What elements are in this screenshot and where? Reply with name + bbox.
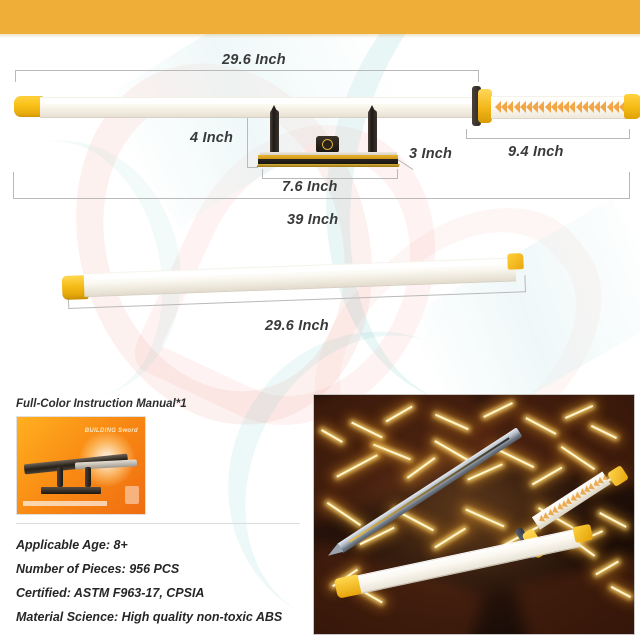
grip-wrap-chevron xyxy=(582,101,588,113)
dim-label-scabbard-top: 29.6 Inch xyxy=(222,52,286,68)
section-divider xyxy=(16,523,300,524)
spec-material-science: Material Science: High quality non-toxic… xyxy=(16,610,282,624)
stand-emblem-icon xyxy=(322,139,333,150)
header-shadow xyxy=(0,34,640,38)
dim-label-stand-depth: 3 Inch xyxy=(409,146,452,162)
dim-label-stand-height: 4 Inch xyxy=(190,130,233,146)
grip-wrap-chevron xyxy=(526,101,532,113)
grip-wrap-chevron xyxy=(551,101,557,113)
grip-wrap-chevron xyxy=(600,101,606,113)
spec-number-of-pieces: Number of Pieces: 956 PCS xyxy=(16,562,179,576)
product-photo xyxy=(313,394,635,635)
manual-cover-stand-base xyxy=(41,487,101,494)
photo-scabbard-cap-right xyxy=(572,524,593,543)
grip-wrap-chevron xyxy=(545,101,551,113)
grip-wrap-chevron xyxy=(507,101,513,113)
display-stand-diagram xyxy=(258,110,398,166)
sword-pommel-cap xyxy=(624,94,640,119)
manual-cover-title: BUILDING Sword xyxy=(85,427,138,436)
stand-post-right xyxy=(368,110,377,154)
grip-wrap-chevron xyxy=(576,101,582,113)
dim-label-handle-length: 9.4 Inch xyxy=(508,144,564,160)
sword-grip xyxy=(491,96,631,119)
stand-base-bevel xyxy=(257,164,400,167)
spec-applicable-age: Applicable Age: 8+ xyxy=(16,538,128,552)
manual-cover-stand xyxy=(55,467,95,489)
dim-label-overall-length: 39 Inch xyxy=(287,212,338,228)
manual-label: Full-Color Instruction Manual*1 xyxy=(16,398,187,410)
grip-wrap-chevron xyxy=(588,101,594,113)
bracket-scabbard-top xyxy=(15,70,479,82)
manual-cover-footer-bar xyxy=(23,501,107,506)
scabbard-highlight xyxy=(44,99,476,104)
dim-label-stand-width: 7.6 Inch xyxy=(282,179,338,195)
grip-wrap-chevron xyxy=(495,101,501,113)
grip-wrap-chevron xyxy=(532,101,538,113)
grip-wrap-chevron xyxy=(514,101,520,113)
grip-wrap-chevron xyxy=(557,101,563,113)
grip-wrap-chevron xyxy=(569,101,575,113)
stand-post-left xyxy=(270,110,279,154)
dim-label-scabbard-bottom: 29.6 Inch xyxy=(265,318,329,334)
stand-emblem-plaque xyxy=(316,136,339,153)
sword-guard-tsuba xyxy=(478,89,492,123)
grip-wrap-chevron xyxy=(501,101,507,113)
manual-cover-thumbnail: BUILDING Sword xyxy=(16,416,146,515)
manual-cover-age-badge xyxy=(125,486,139,504)
grip-wrap-chevron xyxy=(613,101,619,113)
product-parameters-infographic: Product parameters 29.6 Inch 9.4 Inch 4 … xyxy=(0,0,640,640)
header-banner xyxy=(0,0,640,34)
grip-wrap-chevron xyxy=(538,101,544,113)
grip-wrap-chevron xyxy=(607,101,613,113)
manual-cover-stand-leg-left xyxy=(57,467,63,487)
grip-wrap-chevron xyxy=(594,101,600,113)
manual-cover-stand-leg-right xyxy=(85,467,91,487)
bracket-handle-length xyxy=(466,129,630,139)
grip-wrap-chevron xyxy=(520,101,526,113)
grip-wrap-chevron xyxy=(563,101,569,113)
scabbard-end-cap xyxy=(507,253,524,270)
spec-certified: Certified: ASTM F963-17, CPSIA xyxy=(16,586,204,600)
